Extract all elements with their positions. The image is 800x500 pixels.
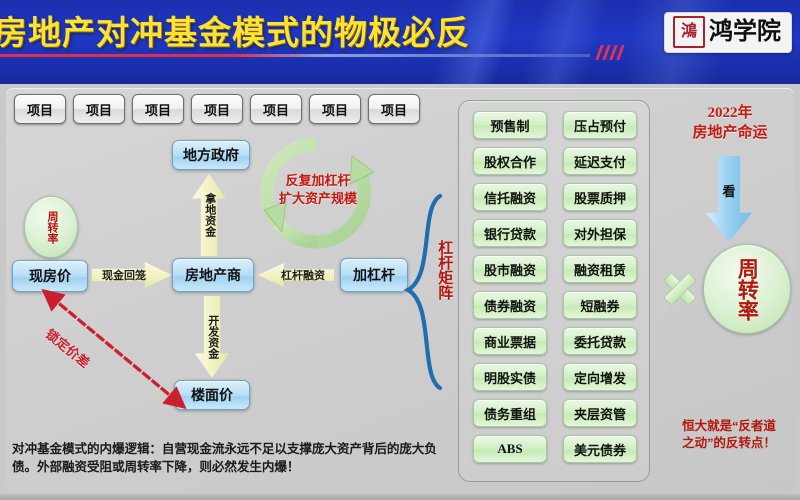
project-button[interactable]: 项目 [250, 94, 302, 124]
matrix-cell[interactable]: 信托融资 [473, 183, 547, 211]
bottom-caption: 对冲基金模式的内爆逻辑：自营现金流永远不足以支撑庞大资产背后的庞大负债。外部融资… [12, 441, 442, 477]
arrow-land-funds: 拿地资金 [192, 174, 226, 256]
matrix-cell[interactable]: 股市融资 [473, 255, 547, 283]
cycle-line-2: 扩大资产规模 [258, 190, 378, 208]
matrix-cell[interactable]: 债券融资 [473, 291, 547, 319]
matrix-cell[interactable]: 夹层资管 [563, 399, 637, 427]
node-add-leverage[interactable]: 加杠杆 [340, 258, 408, 292]
arrow-cash-recovery-label: 现金回笼 [102, 267, 146, 283]
matrix-cell[interactable]: 明股实债 [473, 363, 547, 391]
matrix-cell[interactable]: 短融券 [563, 291, 637, 319]
project-button[interactable]: 项目 [14, 94, 66, 124]
node-local-government[interactable]: 地方政府 [172, 140, 250, 170]
title-underline [0, 54, 590, 57]
project-button[interactable]: 项目 [191, 94, 243, 124]
arrow-watch-label: 看 [722, 181, 735, 200]
slide-root: 房地产对冲基金模式的物极必反 鴻 鸿学院 项目 项目 项目 项目 项目 项目 项… [0, 0, 800, 500]
arrow-leverage-financing: 杠杆融资 [258, 263, 334, 287]
evergrande-note-line-1: 恒大就是“反者道 [662, 418, 796, 435]
title-tick-marks [598, 45, 638, 61]
fate-heading: 2022年 房地产命运 [666, 104, 794, 143]
page-title: 房地产对冲基金模式的物极必反 [0, 6, 470, 54]
footer-strip [0, 494, 800, 500]
project-button[interactable]: 项目 [368, 94, 420, 124]
brand-logo: 鴻 鸿学院 [664, 12, 792, 53]
matrix-cell[interactable]: 股票质押 [563, 183, 637, 211]
label-leverage-cycle: 反复加杠杆 扩大资产规模 [258, 172, 378, 207]
matrix-cell[interactable]: 对外担保 [563, 219, 637, 247]
matrix-cell[interactable]: 美元债券 [563, 435, 637, 463]
matrix-cell[interactable]: 定向增发 [563, 363, 637, 391]
evergrande-note-line-2: 之动”的反转点！ [662, 435, 796, 452]
matrix-cell[interactable]: 银行贷款 [473, 219, 547, 247]
project-button-row: 项目 项目 项目 项目 项目 项目 项目 [14, 94, 420, 124]
arrow-land-funds-label: 拿地资金 [203, 193, 215, 237]
title-bar: 房地产对冲基金模式的物极必反 鴻 鸿学院 [0, 0, 800, 84]
node-turnover-rate-right-label: 周转率 [736, 258, 759, 321]
node-turnover-rate-left-label: 周转率 [45, 211, 57, 244]
arrow-leverage-financing-label: 杠杆融资 [281, 267, 325, 283]
project-button[interactable]: 项目 [132, 94, 184, 124]
content-panel: 项目 项目 项目 项目 项目 项目 项目 地方政府 拿地资金 周转率 现房价 现… [6, 88, 794, 494]
leverage-matrix-panel: 预售制 股权合作 信托融资 银行贷款 股市融资 债券融资 商业票据 明股实债 债… [458, 100, 650, 482]
node-turnover-rate-left[interactable]: 周转率 [24, 196, 78, 258]
matrix-cell[interactable]: 股权合作 [473, 147, 547, 175]
arrow-development-funds: 开发资金 [195, 296, 229, 378]
node-turnover-rate-right[interactable]: 周转率 [703, 244, 791, 334]
brand-name: 鸿学院 [709, 20, 781, 44]
evergrande-note: 恒大就是“反者道 之动”的反转点！ [662, 418, 796, 452]
matrix-cell[interactable]: 预售制 [473, 111, 547, 139]
project-button[interactable]: 项目 [73, 94, 125, 124]
arrow-watch: 看 [706, 156, 752, 242]
cycle-line-1: 反复加杠杆 [258, 172, 378, 190]
project-button[interactable]: 项目 [309, 94, 361, 124]
label-leverage-matrix: 杠杆矩阵 [436, 240, 452, 300]
fate-line-2: 房地产命运 [666, 124, 794, 144]
matrix-cell[interactable]: 延迟支付 [563, 147, 637, 175]
matrix-cell[interactable]: 商业票据 [473, 327, 547, 355]
matrix-cell[interactable]: 委托贷款 [563, 327, 637, 355]
multiply-icon [662, 270, 696, 304]
seal-icon: 鴻 [673, 16, 705, 48]
matrix-cell[interactable]: 债务重组 [473, 399, 547, 427]
matrix-cell[interactable]: ABS [473, 435, 547, 463]
arrow-development-funds-label: 开发资金 [206, 315, 218, 359]
matrix-cell[interactable]: 融资租赁 [563, 255, 637, 283]
matrix-cell[interactable]: 压占预付 [563, 111, 637, 139]
fate-line-1: 2022年 [666, 104, 794, 124]
